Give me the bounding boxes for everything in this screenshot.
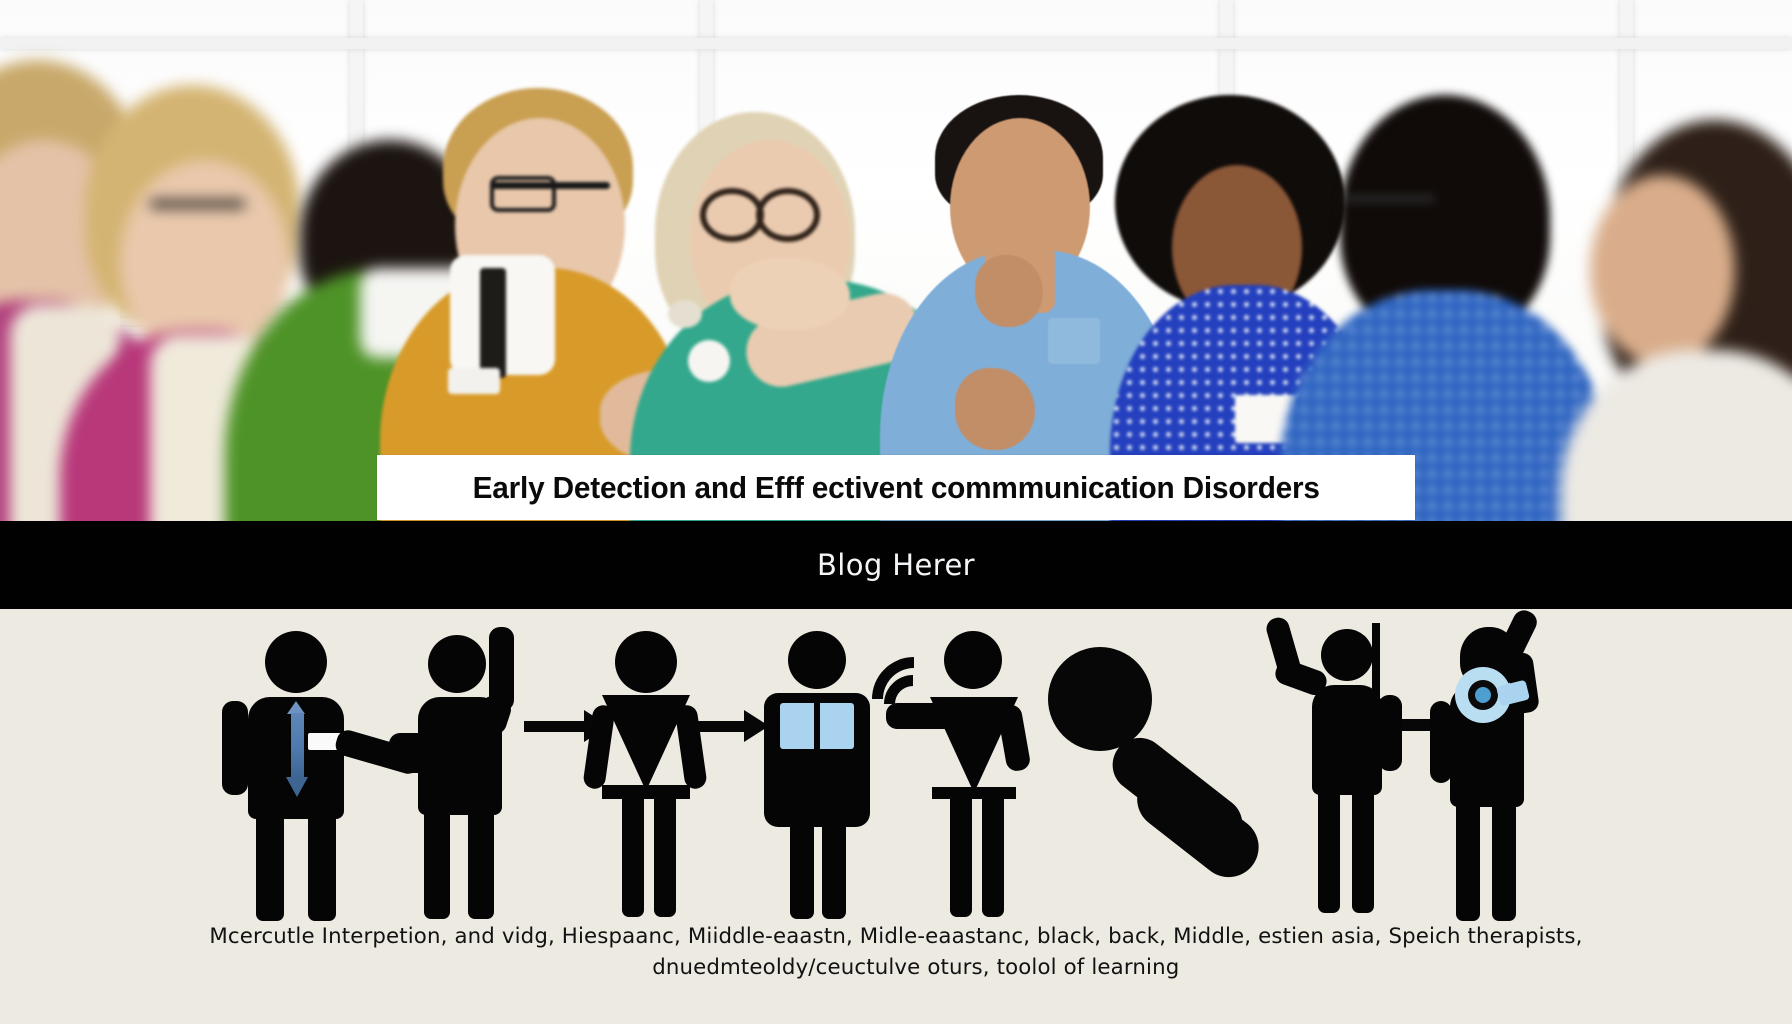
header-photo <box>0 0 1792 527</box>
title-banner: Early Detection and Efff ectivent commmu… <box>377 455 1415 520</box>
page-title: Early Detection and Efff ectivent commmu… <box>472 470 1319 506</box>
poster-root: Early Detection and Efff ectivent commmu… <box>0 0 1792 1024</box>
caption-line-2: dnuedmteoldy/ceuctulve oturs, toolol of … <box>9 953 1783 984</box>
pictogram-panel: Mcercutle Interpetion, and vidg, Hiespaa… <box>0 609 1792 1024</box>
caption-line-1: Mcercutle Interpetion, and vidg, Hiespaa… <box>9 922 1783 953</box>
caption-block: Mcercutle Interpetion, and vidg, Hiespaa… <box>0 922 1792 983</box>
blog-bar: Blog Herer <box>0 521 1792 609</box>
blog-bar-label: Blog Herer <box>817 548 975 582</box>
pictogram-row <box>0 609 1792 909</box>
window-mullion-horizontal <box>0 38 1792 49</box>
